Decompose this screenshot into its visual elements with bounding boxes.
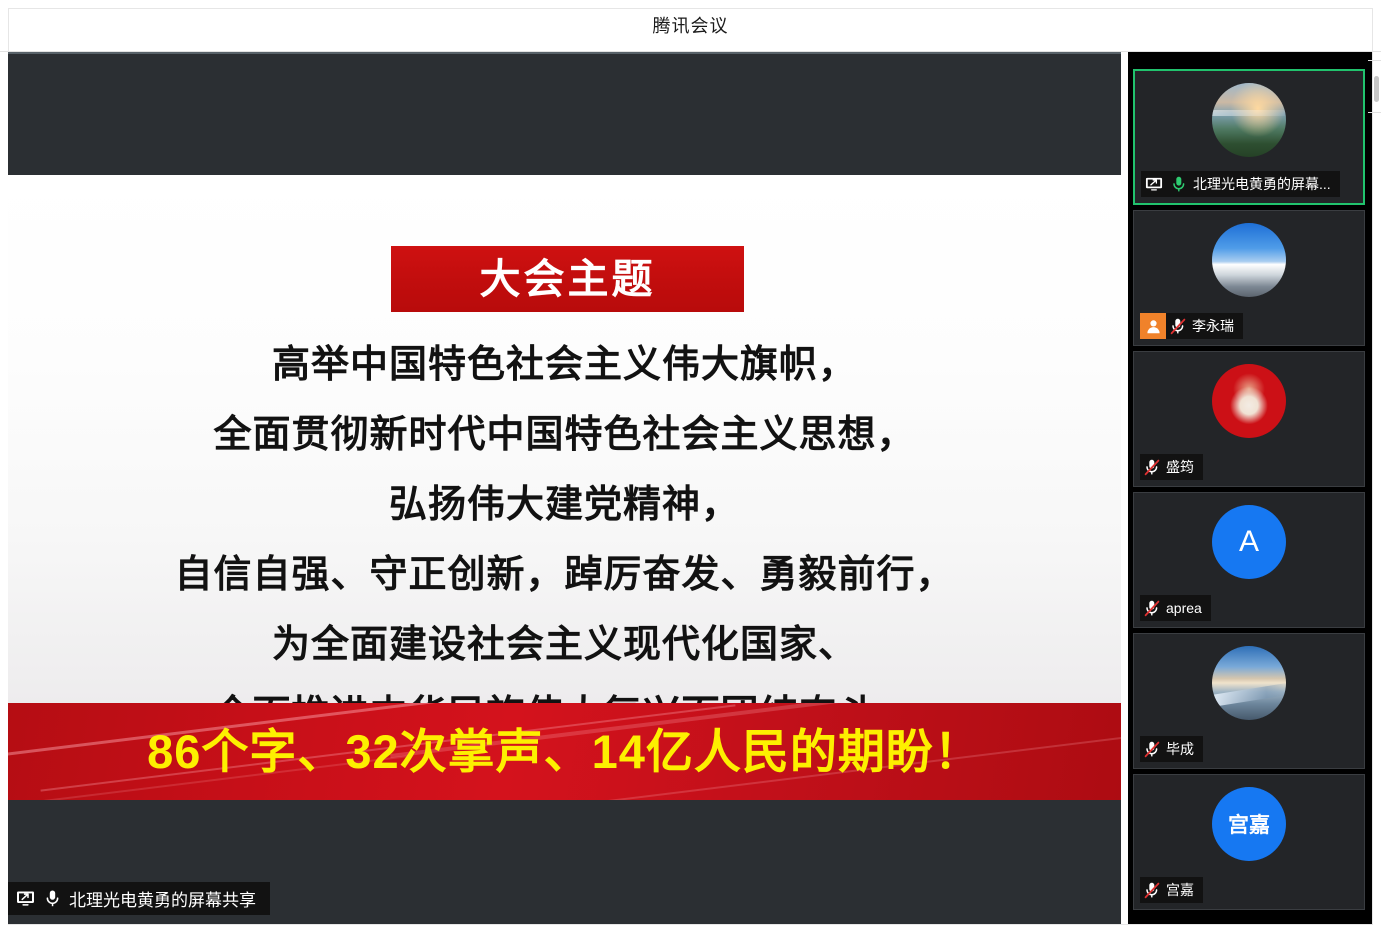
tencent-meeting-window: 腾讯会议 大会主题 高举中国特色社会主义伟大旗帜， 全面贯彻新时代中国特色社会主… bbox=[0, 0, 1381, 932]
avatar: 宫嘉 bbox=[1212, 787, 1286, 861]
screen-share-icon bbox=[16, 889, 35, 908]
window-title: 腾讯会议 bbox=[0, 0, 1381, 52]
slide-title-text: 大会主题 bbox=[480, 259, 656, 300]
microphone-icon bbox=[1167, 171, 1191, 197]
participant-rail[interactable]: 北理光电黄勇的屏幕...李永瑞盛筠Aaprea毕成宫嘉宫嘉 bbox=[1128, 52, 1373, 924]
avatar bbox=[1212, 646, 1286, 720]
window-frame-bottom-edge bbox=[8, 924, 1373, 925]
scrollbar-divider-bottom bbox=[1368, 112, 1381, 113]
stage-top-edge bbox=[8, 52, 1121, 54]
slide-bottom-banner: 86个字、32次掌声、14亿人民的期盼！ bbox=[8, 703, 1121, 800]
avatar-image bbox=[1212, 646, 1286, 720]
microphone-icon bbox=[44, 889, 61, 908]
slide-line: 为全面建设社会主义现代化国家、 bbox=[8, 610, 1121, 680]
scrollbar-divider-top bbox=[1368, 60, 1381, 61]
slide-line: 弘扬伟大建党精神， bbox=[8, 470, 1121, 540]
avatar-image: A bbox=[1212, 505, 1286, 579]
participant-name: aprea bbox=[1164, 595, 1211, 621]
participant-tile[interactable]: Aaprea bbox=[1133, 492, 1365, 628]
participant-name: 北理光电黄勇的屏幕... bbox=[1191, 171, 1340, 197]
participant-tile[interactable]: 李永瑞 bbox=[1133, 210, 1365, 346]
participant-tile[interactable]: 毕成 bbox=[1133, 633, 1365, 769]
participant-rail-scrollbar-thumb[interactable] bbox=[1374, 76, 1379, 102]
stage-sharer-label: 北理光电黄勇的屏幕共享 bbox=[69, 886, 256, 911]
participant-name: 宫嘉 bbox=[1164, 877, 1203, 903]
stage-sharer-pill: 北理光电黄勇的屏幕共享 bbox=[8, 882, 270, 915]
slide-title-chip: 大会主题 bbox=[391, 246, 744, 312]
participant-badge: 盛筠 bbox=[1140, 454, 1203, 480]
participant-badge: 李永瑞 bbox=[1140, 313, 1243, 339]
avatar-image bbox=[1212, 83, 1286, 157]
microphone-muted-icon bbox=[1140, 595, 1164, 621]
slide-banner-text: 86个字、32次掌声、14亿人民的期盼！ bbox=[147, 728, 982, 775]
participant-tile[interactable]: 北理光电黄勇的屏幕... bbox=[1133, 69, 1365, 205]
participant-name: 毕成 bbox=[1164, 736, 1203, 762]
avatar bbox=[1212, 364, 1286, 438]
avatar: A bbox=[1212, 505, 1286, 579]
slide-body-text: 高举中国特色社会主义伟大旗帜， 全面贯彻新时代中国特色社会主义思想， 弘扬伟大建… bbox=[8, 330, 1121, 750]
participant-name: 李永瑞 bbox=[1190, 313, 1243, 339]
slide-line: 自信自强、守正创新，踔厉奋发、勇毅前行， bbox=[8, 540, 1121, 610]
participant-badge: 宫嘉 bbox=[1140, 877, 1203, 903]
slide-line: 全面贯彻新时代中国特色社会主义思想， bbox=[8, 400, 1121, 470]
microphone-muted-icon bbox=[1166, 313, 1190, 339]
avatar bbox=[1212, 83, 1286, 157]
participant-name: 盛筠 bbox=[1164, 454, 1203, 480]
screen-share-icon bbox=[1141, 171, 1167, 197]
participant-badge: aprea bbox=[1140, 595, 1211, 621]
avatar bbox=[1212, 223, 1286, 297]
avatar-image: 宫嘉 bbox=[1212, 787, 1286, 861]
microphone-muted-icon bbox=[1140, 877, 1164, 903]
participant-tile[interactable]: 宫嘉宫嘉 bbox=[1133, 774, 1365, 910]
avatar-image bbox=[1212, 223, 1286, 297]
avatar-image bbox=[1212, 364, 1286, 438]
window-titlebar: 腾讯会议 bbox=[0, 0, 1381, 52]
participant-badge: 北理光电黄勇的屏幕... bbox=[1141, 171, 1340, 197]
shared-screen-stage[interactable]: 大会主题 高举中国特色社会主义伟大旗帜， 全面贯彻新时代中国特色社会主义思想， … bbox=[8, 52, 1121, 924]
participant-badge: 毕成 bbox=[1140, 736, 1203, 762]
microphone-muted-icon bbox=[1140, 454, 1164, 480]
presentation-slide: 大会主题 高举中国特色社会主义伟大旗帜， 全面贯彻新时代中国特色社会主义思想， … bbox=[8, 175, 1121, 800]
participant-rail-scrollbar-track[interactable] bbox=[1373, 52, 1381, 924]
slide-line: 高举中国特色社会主义伟大旗帜， bbox=[8, 330, 1121, 400]
participant-tile[interactable]: 盛筠 bbox=[1133, 351, 1365, 487]
host-person-icon bbox=[1140, 313, 1166, 339]
window-frame-right-edge bbox=[1372, 8, 1373, 924]
microphone-muted-icon bbox=[1140, 736, 1164, 762]
